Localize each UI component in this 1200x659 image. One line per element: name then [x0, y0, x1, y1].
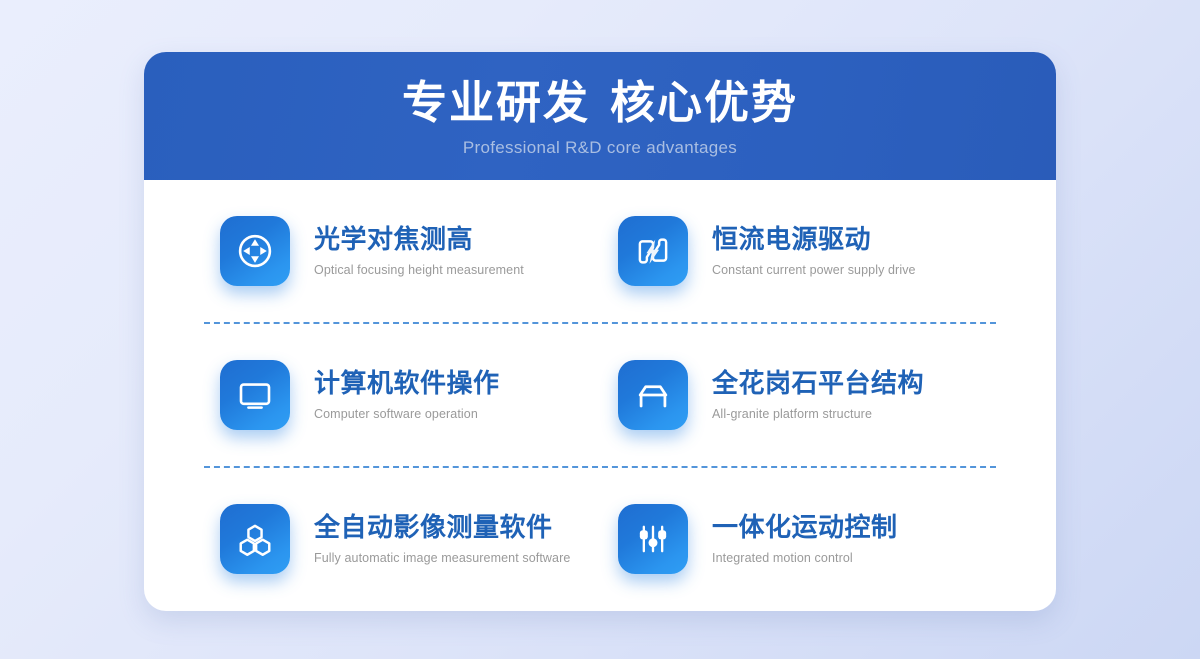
feature-text-block: 恒流电源驱动 Constant current power supply dri…: [712, 225, 916, 278]
feature-text-block: 光学对焦测高 Optical focusing height measureme…: [314, 225, 524, 278]
feature-subtitle: Integrated motion control: [712, 551, 898, 565]
page-title: 专业研发核心优势: [402, 80, 798, 125]
feature-row-3: 全自动影像测量软件 Fully automatic image measurem…: [202, 468, 998, 610]
feature-text-block: 全自动影像测量软件 Fully automatic image measurem…: [314, 513, 570, 566]
feature-title: 一体化运动控制: [712, 513, 898, 543]
feature-item-motion-control[interactable]: 一体化运动控制 Integrated motion control: [618, 504, 1016, 574]
feature-subtitle: Constant current power supply drive: [712, 263, 916, 277]
feature-title: 恒流电源驱动: [712, 225, 916, 255]
features-grid: 光学对焦测高 Optical focusing height measureme…: [144, 180, 1056, 611]
feature-title: 计算机软件操作: [314, 369, 500, 399]
feature-item-granite-platform[interactable]: 全花岗石平台结构 All-granite platform structure: [618, 360, 1016, 430]
feature-text-block: 一体化运动控制 Integrated motion control: [712, 513, 898, 566]
feature-subtitle: Computer software operation: [314, 407, 500, 421]
feature-item-optical-focusing[interactable]: 光学对焦测高 Optical focusing height measureme…: [202, 216, 618, 286]
feature-row-1: 光学对焦测高 Optical focusing height measureme…: [202, 180, 998, 322]
feature-title: 全花岗石平台结构: [712, 369, 924, 399]
feature-item-computer-software[interactable]: 计算机软件操作 Computer software operation: [202, 360, 618, 430]
feature-item-image-measurement[interactable]: 全自动影像测量软件 Fully automatic image measurem…: [202, 504, 618, 574]
hexagon-cluster-icon: [220, 504, 290, 574]
page-title-part1: 专业研发: [402, 76, 590, 129]
battery-bolt-icon: [618, 216, 688, 286]
card-header-banner: 专业研发核心优势 Professional R&D core advantage…: [144, 52, 1056, 180]
page-root: 专业研发核心优势 Professional R&D core advantage…: [0, 0, 1200, 659]
feature-title: 全自动影像测量软件: [314, 513, 570, 543]
feature-row-2: 计算机软件操作 Computer software operation 全花岗石…: [202, 324, 998, 466]
advantages-card: 专业研发核心优势 Professional R&D core advantage…: [144, 52, 1056, 611]
platform-table-icon: [618, 360, 688, 430]
focus-crosshair-icon: [220, 216, 290, 286]
feature-subtitle: All-granite platform structure: [712, 407, 924, 421]
feature-title: 光学对焦测高: [314, 225, 524, 255]
page-subtitle: Professional R&D core advantages: [463, 138, 737, 158]
page-title-part2: 核心优势: [610, 76, 798, 129]
feature-text-block: 计算机软件操作 Computer software operation: [314, 369, 500, 422]
sliders-icon: [618, 504, 688, 574]
feature-subtitle: Optical focusing height measurement: [314, 263, 524, 277]
feature-item-constant-current[interactable]: 恒流电源驱动 Constant current power supply dri…: [618, 216, 1016, 286]
divider-1: [204, 322, 996, 324]
divider-2: [204, 466, 996, 468]
monitor-icon: [220, 360, 290, 430]
feature-text-block: 全花岗石平台结构 All-granite platform structure: [712, 369, 924, 422]
feature-subtitle: Fully automatic image measurement softwa…: [314, 551, 570, 565]
